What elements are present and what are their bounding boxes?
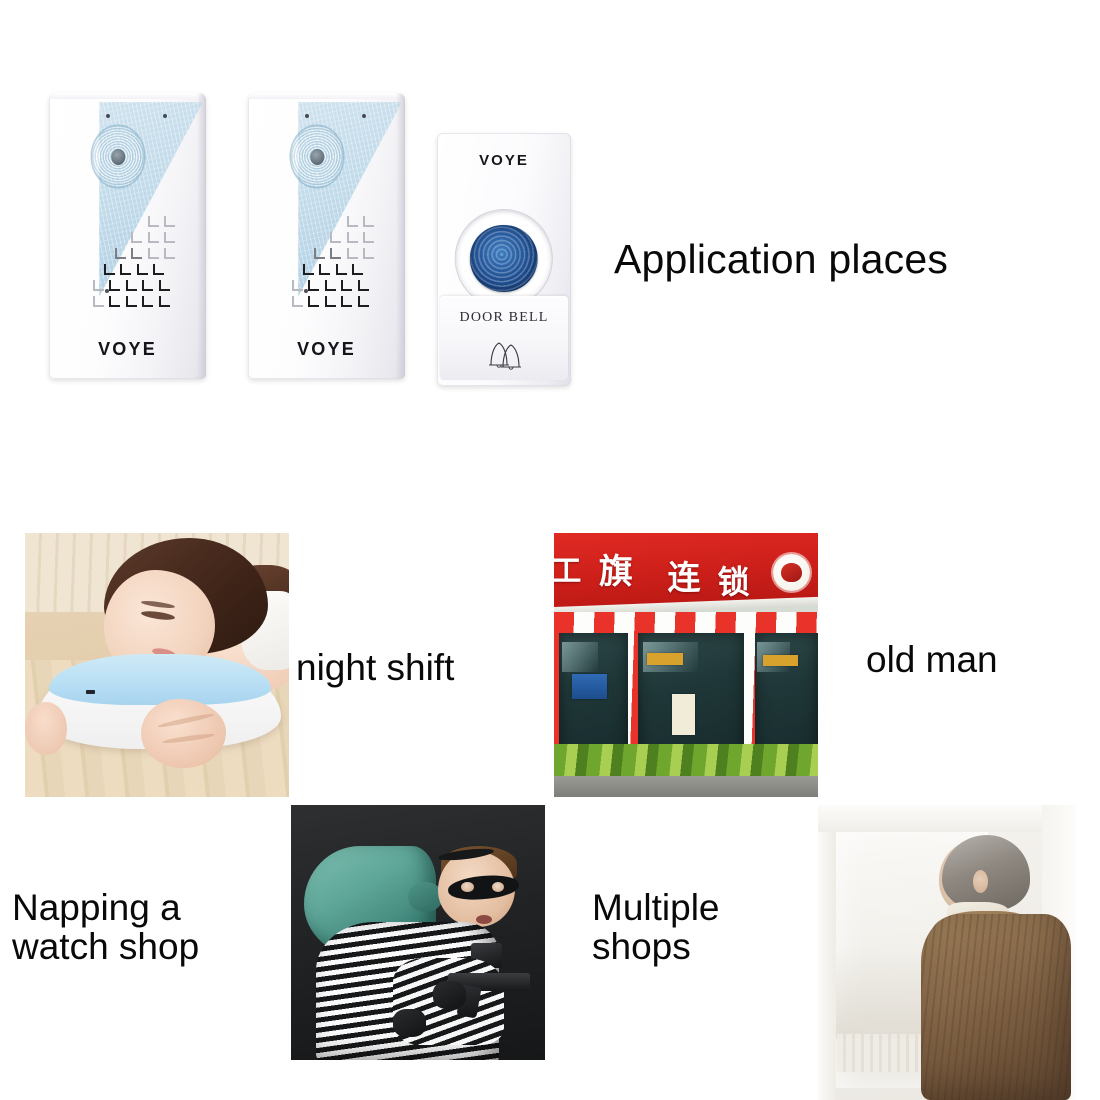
caption-old-man: old man	[866, 640, 998, 679]
receiver-speaker-core	[111, 149, 124, 165]
thief-mouth	[476, 915, 491, 924]
shop-sign-char-2: 连	[668, 551, 701, 599]
thief-glove-right	[433, 981, 466, 1009]
shop-logo-badge	[773, 554, 810, 591]
doorbell-button-ring[interactable]	[456, 210, 552, 306]
receiver-grille	[104, 216, 195, 305]
shop-sign-char-3: 锁	[718, 557, 750, 603]
nap-pillow-blue	[49, 654, 271, 704]
door-bell-label: DOOR BELL	[440, 310, 567, 326]
shop-poster-orange	[763, 655, 797, 666]
receiver-speaker	[92, 126, 144, 187]
nap-hand-left	[25, 702, 67, 755]
receiver-grille	[303, 216, 394, 305]
shop-poster-orange	[647, 653, 683, 665]
receiver-speaker-core	[310, 149, 323, 165]
oldman-wall-top	[818, 805, 1076, 832]
doorbell-push-button[interactable]: VOYE DOOR BELL	[437, 133, 571, 386]
oldman-cardigan	[921, 914, 1071, 1100]
photo-storefront: 工 旗 连 锁	[554, 533, 818, 797]
caption-napping-watch-shop: Napping a watch shop	[12, 888, 199, 966]
receiver-side-shadow	[396, 93, 405, 379]
shop-sign-char-0: 工	[554, 546, 581, 590]
doorbell-name-plate: DOOR BELL	[440, 296, 567, 379]
photo-elderly-man	[818, 805, 1076, 1100]
caption-multiple-shops: Multiple shops	[592, 888, 720, 966]
caption-night-shift: night shift	[296, 648, 454, 687]
receiver-side-shadow	[197, 93, 206, 379]
shop-poster-white	[672, 694, 695, 735]
shop-logo-mark	[781, 563, 802, 582]
chime-receiver-1[interactable]: VOYE	[49, 93, 206, 379]
receiver-top-bevel	[248, 93, 405, 99]
photo-burglar	[291, 805, 545, 1060]
receiver-speaker	[291, 126, 343, 187]
poster-canvas: VOYE	[0, 0, 1100, 1100]
thief-glove-left	[393, 1009, 426, 1037]
transmitter-brand-label: VOYE	[437, 152, 571, 169]
receiver-top-bevel	[49, 93, 206, 99]
oldman-wall-left	[818, 805, 836, 1100]
doorbell-button[interactable]	[470, 225, 538, 293]
receiver-brand-label: VOYE	[49, 339, 206, 360]
photo-night-shift	[25, 533, 289, 797]
thief-eye-left	[461, 882, 474, 893]
bells-icon	[477, 337, 531, 371]
shop-sign-char-1: 旗	[599, 544, 633, 593]
receiver-brand-label: VOYE	[248, 339, 405, 360]
shop-pavement	[554, 776, 818, 797]
shop-poster-blue	[572, 674, 608, 699]
shop-window-glare	[562, 642, 598, 672]
chime-receiver-2[interactable]: VOYE	[248, 93, 405, 379]
nap-pillow-tag	[86, 690, 95, 694]
page-title: Application places	[614, 238, 948, 281]
